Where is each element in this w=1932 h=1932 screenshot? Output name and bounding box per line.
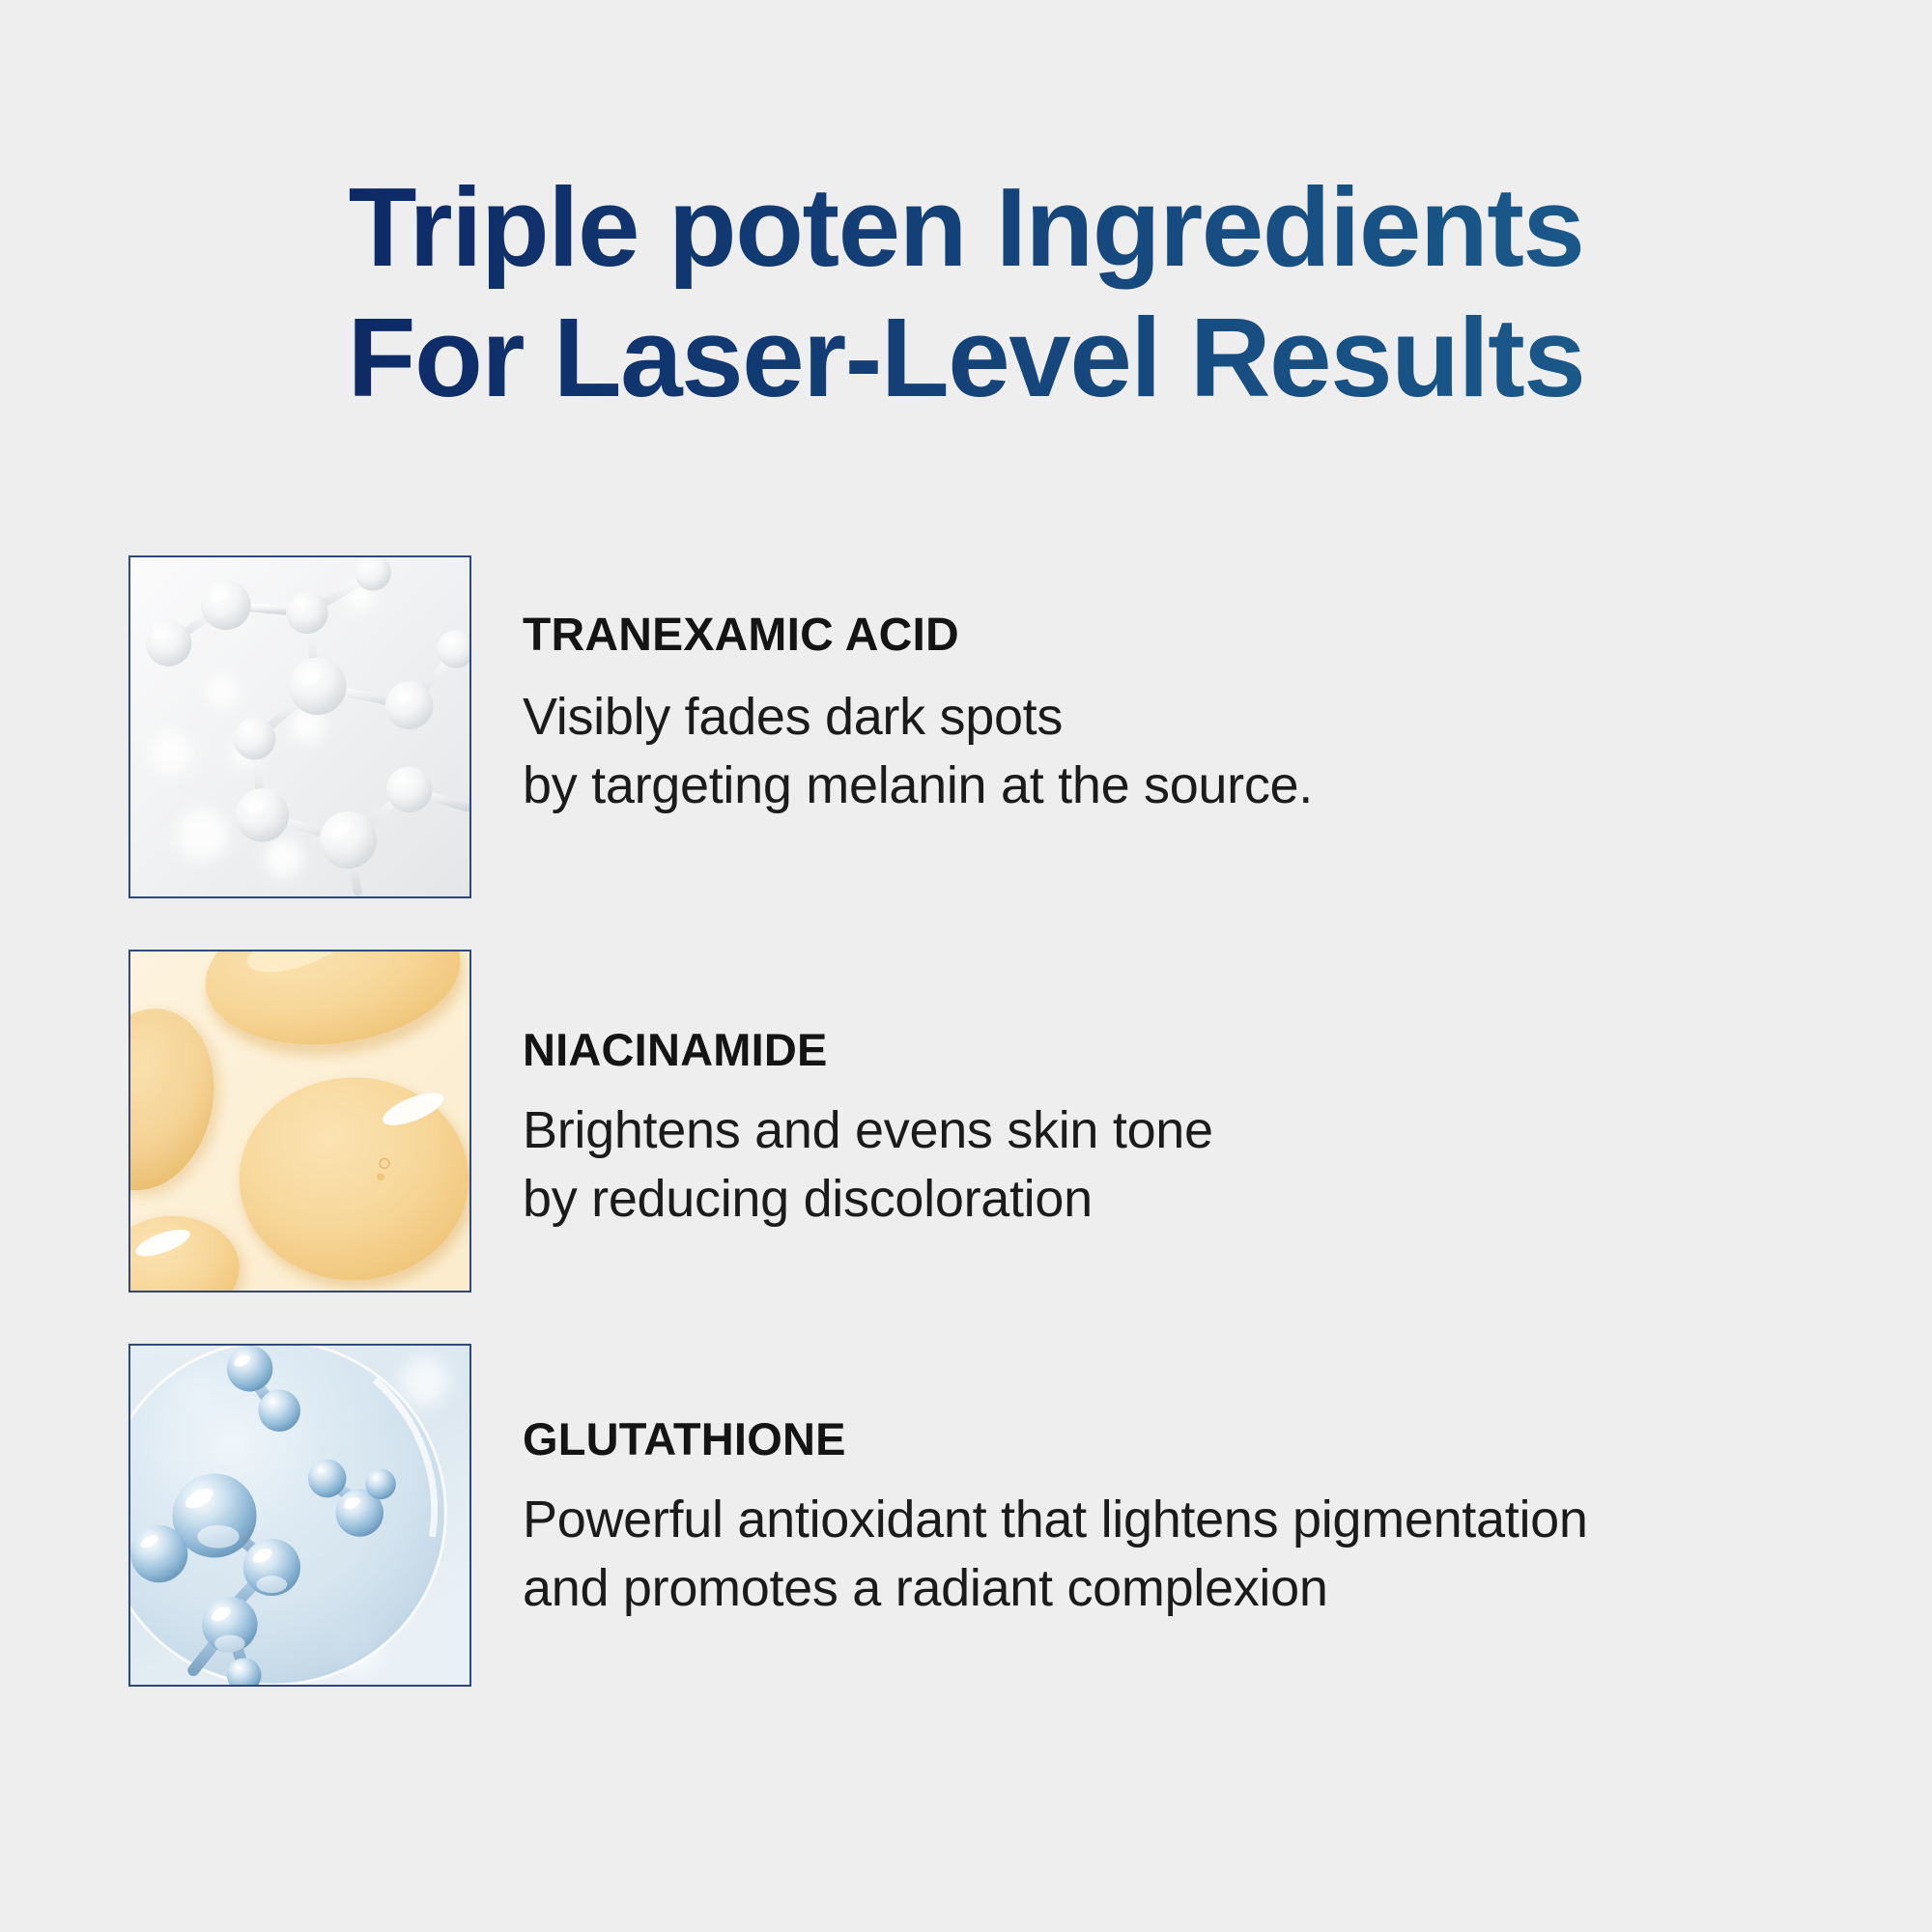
ingredient-text: GLUTATHIONE Powerful antioxidant that li…	[471, 1344, 1867, 1623]
page-title: Triple poten Ingredients For Laser-Level…	[0, 162, 1932, 422]
ingredient-description-line-1: Visibly fades dark spots	[523, 683, 1867, 752]
ingredient-infographic-page: Triple poten Ingredients For Laser-Level…	[0, 0, 1932, 1932]
ingredient-description: Visibly fades dark spots by targeting me…	[523, 683, 1867, 821]
ingredient-description: Powerful antioxidant that lightens pigme…	[523, 1486, 1867, 1624]
ingredient-text: NIACINAMIDE Brightens and evens skin ton…	[471, 950, 1867, 1234]
clear-molecule-lattice-image	[128, 555, 471, 898]
ingredient-description-line-2: by reducing discoloration	[523, 1165, 1867, 1234]
blue-molecule-bubble-image	[128, 1344, 471, 1687]
ingredient-description-line-1: Brightens and evens skin tone	[523, 1096, 1867, 1165]
ingredient-title: GLUTATHIONE	[523, 1414, 1867, 1464]
ingredient-row: NIACINAMIDE Brightens and evens skin ton…	[128, 950, 1867, 1293]
ingredient-description-line-1: Powerful antioxidant that lightens pigme…	[523, 1486, 1867, 1554]
golden-serum-droplets-image	[128, 950, 471, 1293]
ingredient-list: TRANEXAMIC ACID Visibly fades dark spots…	[128, 555, 1867, 1687]
ingredient-title: TRANEXAMIC ACID	[523, 611, 1867, 662]
ingredient-row: TRANEXAMIC ACID Visibly fades dark spots…	[128, 555, 1867, 898]
headline-line-2: For Laser-Level Results	[0, 293, 1932, 423]
headline-line-1: Triple poten Ingredients	[0, 162, 1932, 293]
ingredient-description: Brightens and evens skin tone by reducin…	[523, 1096, 1867, 1235]
ingredient-title: NIACINAMIDE	[523, 1025, 1867, 1075]
ingredient-description-line-2: by targeting melanin at the source.	[523, 752, 1867, 820]
ingredient-row: GLUTATHIONE Powerful antioxidant that li…	[128, 1344, 1867, 1687]
ingredient-text: TRANEXAMIC ACID Visibly fades dark spots…	[471, 555, 1867, 820]
ingredient-description-line-2: and promotes a radiant complexion	[523, 1554, 1867, 1623]
